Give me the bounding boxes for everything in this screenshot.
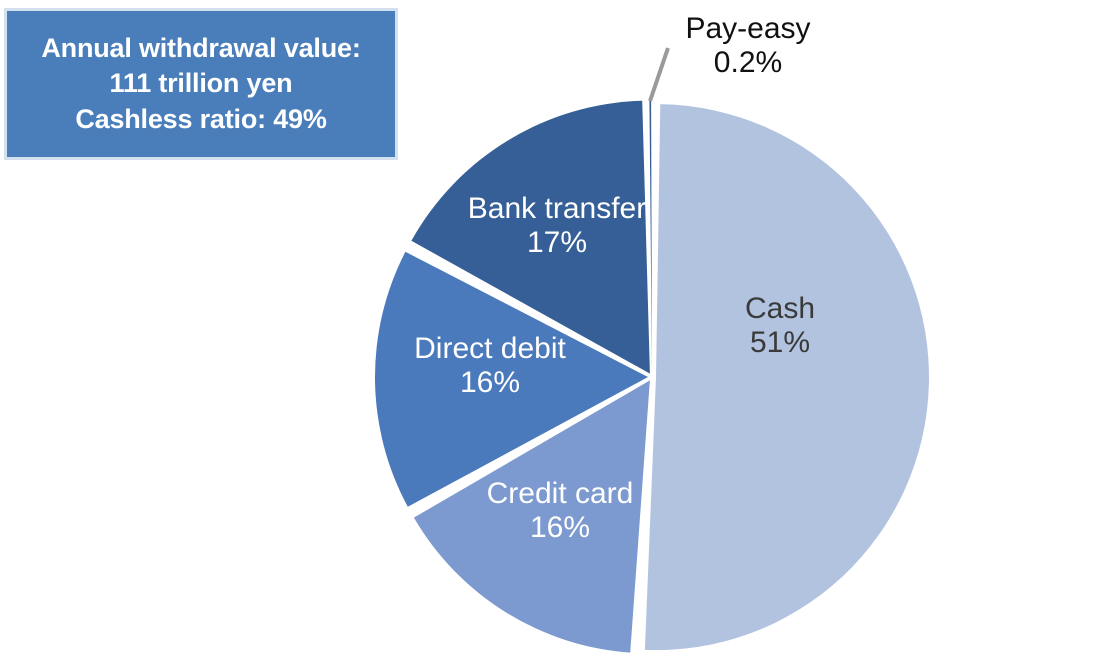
callout-line-2: 111 trillion yen: [110, 66, 293, 102]
callout-line-1: Annual withdrawal value:: [41, 31, 360, 67]
annual-withdrawal-callout: Annual withdrawal value: 111 trillion ye…: [4, 8, 398, 160]
chart-canvas: Annual withdrawal value: 111 trillion ye…: [0, 0, 1120, 668]
pie-slice-cash[interactable]: [645, 104, 929, 650]
pie-slice-pay-easy[interactable]: [649, 100, 652, 373]
pay-easy-leader-line: [650, 48, 668, 101]
callout-line-3: Cashless ratio: 49%: [75, 102, 326, 138]
